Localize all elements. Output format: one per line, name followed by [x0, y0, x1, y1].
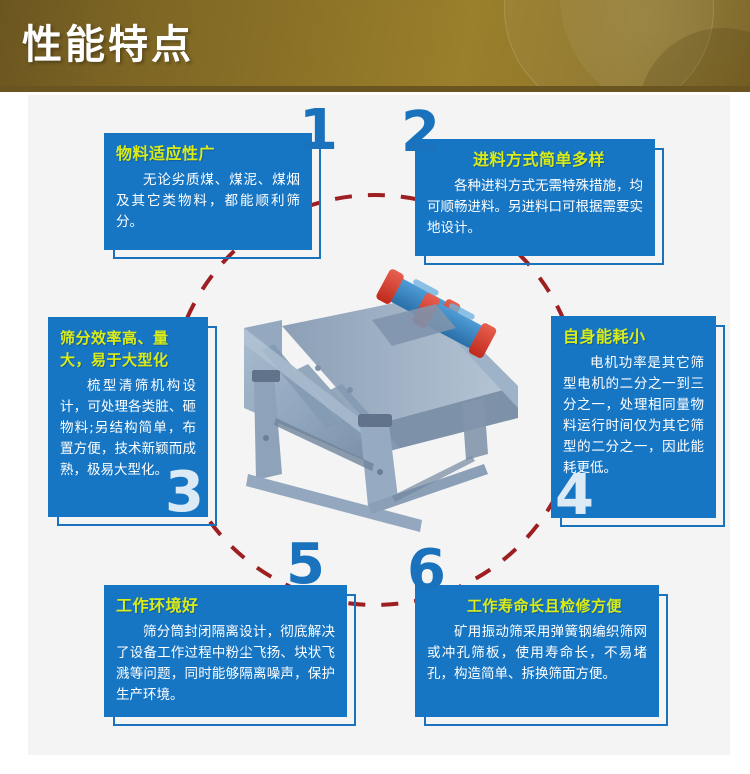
- card-title: 物料适应性广: [116, 143, 300, 165]
- card-number: 4: [555, 468, 594, 518]
- card-body: 进料方式简单多样 各种进料方式无需特殊措施，均可顺畅进料。另进料口可根据需要实地…: [415, 139, 655, 256]
- feature-card-2: 进料方式简单多样 各种进料方式无需特殊措施，均可顺畅进料。另进料口可根据需要实地…: [415, 139, 655, 256]
- card-title: 筛分效率高、量大，易于大型化: [60, 327, 196, 371]
- feature-card-5: 工作环境好 筛分筒封闭隔离设计，彻底解决了设备工作过程中粉尘飞扬、块状飞溅等问题…: [104, 585, 347, 717]
- card-number: 2: [401, 105, 440, 161]
- card-text: 电机功率是其它筛型电机的二分之一到三分之一，处理相同量物料运行时间仅为其它筛型的…: [563, 353, 704, 479]
- card-body: 工作寿命长且检修方便 矿用振动筛采用弹簧钢编织筛网或冲孔筛板，使用寿命长，不易堵…: [415, 585, 659, 717]
- card-number: 1: [299, 103, 338, 159]
- card-body: 筛分效率高、量大，易于大型化 梳型清筛机构设计，可处理各类脏、砸物料;另结构简单…: [48, 317, 208, 517]
- page-title: 性能特点: [22, 19, 194, 71]
- card-text: 各种进料方式无需特殊措施，均可顺畅进料。另进料口可根据需要实地设计。: [427, 176, 643, 239]
- card-text: 筛分筒封闭隔离设计，彻底解决了设备工作过程中粉尘飞扬、块状飞溅等问题，同时能够隔…: [116, 622, 335, 706]
- card-body: 工作环境好 筛分筒封闭隔离设计，彻底解决了设备工作过程中粉尘飞扬、块状飞溅等问题…: [104, 585, 347, 717]
- card-title: 自身能耗小: [563, 326, 704, 348]
- machine-illustration: [222, 258, 532, 543]
- card-text: 矿用振动筛采用弹簧钢编织筛网或冲孔筛板，使用寿命长，不易堵孔，构造简单、拆换筛面…: [427, 622, 647, 685]
- card-number: 3: [165, 465, 204, 517]
- performance-features-infographic: 性能特点: [0, 0, 750, 774]
- card-title: 工作寿命长且检修方便: [467, 595, 647, 617]
- card-title: 工作环境好: [116, 595, 335, 617]
- header-banner: 性能特点: [0, 0, 750, 92]
- feature-card-6: 工作寿命长且检修方便 矿用振动筛采用弹簧钢编织筛网或冲孔筛板，使用寿命长，不易堵…: [415, 585, 659, 717]
- card-body: 物料适应性广 无论劣质煤、煤泥、煤烟及其它类物料，都能顺利筛分。: [104, 133, 312, 250]
- card-title: 进料方式简单多样: [473, 149, 643, 171]
- feature-card-1: 物料适应性广 无论劣质煤、煤泥、煤烟及其它类物料，都能顺利筛分。 1: [104, 133, 312, 250]
- feature-card-4: 自身能耗小 电机功率是其它筛型电机的二分之一到三分之一，处理相同量物料运行时间仅…: [551, 316, 716, 518]
- card-body: 自身能耗小 电机功率是其它筛型电机的二分之一到三分之一，处理相同量物料运行时间仅…: [551, 316, 716, 518]
- vibrating-screen-machine-image: [222, 258, 532, 543]
- feature-card-3: 筛分效率高、量大，易于大型化 梳型清筛机构设计，可处理各类脏、砸物料;另结构简单…: [48, 317, 208, 517]
- card-number: 6: [407, 543, 446, 599]
- card-number: 5: [286, 537, 325, 593]
- banner-bottom-bar: [0, 86, 750, 92]
- card-text: 无论劣质煤、煤泥、煤烟及其它类物料，都能顺利筛分。: [116, 170, 300, 233]
